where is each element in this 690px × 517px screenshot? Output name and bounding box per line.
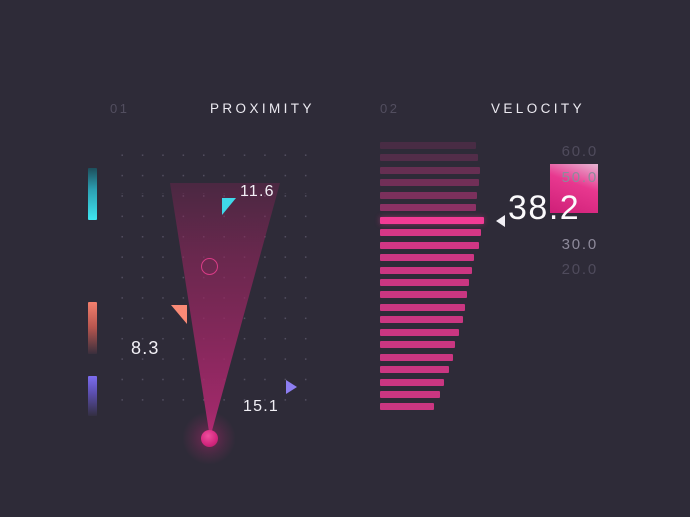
velocity-bar[interactable] bbox=[380, 267, 472, 274]
proximity-gauge-salmon[interactable] bbox=[88, 302, 97, 354]
velocity-bar[interactable] bbox=[380, 403, 434, 410]
velocity-bar[interactable] bbox=[380, 279, 469, 286]
purple-marker-value: 15.1 bbox=[243, 398, 279, 416]
salmon-marker-value: 8.3 bbox=[131, 338, 160, 359]
salmon-triangle-marker-icon[interactable] bbox=[171, 305, 187, 324]
proximity-panel: 01 PROXIMITY 11.6 8.3 1 bbox=[0, 0, 350, 517]
velocity-bar[interactable] bbox=[380, 341, 455, 348]
purple-triangle-marker-icon[interactable] bbox=[286, 380, 297, 394]
cyan-triangle-marker-icon[interactable] bbox=[222, 198, 236, 215]
velocity-bar[interactable] bbox=[380, 204, 476, 211]
velocity-readout-value: 38.2 bbox=[508, 189, 580, 228]
velocity-bar[interactable] bbox=[380, 366, 449, 373]
velocity-bar[interactable] bbox=[380, 192, 477, 199]
proximity-panel-title: PROXIMITY bbox=[210, 101, 315, 116]
velocity-bar[interactable] bbox=[380, 379, 444, 386]
proximity-gauge-purple[interactable] bbox=[88, 376, 97, 416]
velocity-bar[interactable] bbox=[380, 179, 479, 186]
cyan-marker-value: 11.6 bbox=[240, 183, 275, 201]
proximity-panel-index: 01 bbox=[110, 101, 129, 116]
dashboard-canvas: 01 PROXIMITY 11.6 8.3 1 bbox=[0, 0, 690, 517]
proximity-gauge-cyan[interactable] bbox=[88, 168, 97, 220]
velocity-bar[interactable] bbox=[380, 254, 474, 261]
velocity-bar[interactable] bbox=[380, 304, 465, 311]
velocity-bar[interactable] bbox=[380, 142, 476, 149]
velocity-bar[interactable] bbox=[380, 167, 480, 174]
velocity-bar[interactable] bbox=[380, 217, 484, 224]
velocity-panel-index: 02 bbox=[380, 101, 399, 116]
velocity-bar-stack bbox=[380, 142, 510, 416]
velocity-bar[interactable] bbox=[380, 229, 481, 236]
velocity-panel: 02 VELOCITY 60.0 50.0 30.0 20.0 38.2 bbox=[350, 0, 690, 517]
velocity-bar[interactable] bbox=[380, 329, 459, 336]
velocity-bar[interactable] bbox=[380, 154, 478, 161]
velocity-tick-30: 30.0 bbox=[528, 236, 598, 253]
velocity-bar[interactable] bbox=[380, 242, 479, 249]
beam-origin-dot[interactable] bbox=[201, 430, 218, 447]
velocity-tick-50: 50.0 bbox=[528, 169, 598, 186]
velocity-bar[interactable] bbox=[380, 354, 453, 361]
velocity-tick-60: 60.0 bbox=[528, 143, 598, 160]
velocity-panel-title: VELOCITY bbox=[491, 101, 585, 116]
velocity-bar[interactable] bbox=[380, 316, 463, 323]
velocity-bar-cursor-icon[interactable] bbox=[496, 215, 505, 227]
velocity-tick-20: 20.0 bbox=[528, 261, 598, 278]
velocity-bar[interactable] bbox=[380, 291, 467, 298]
velocity-bar[interactable] bbox=[380, 391, 440, 398]
target-ring-icon[interactable] bbox=[201, 258, 218, 275]
